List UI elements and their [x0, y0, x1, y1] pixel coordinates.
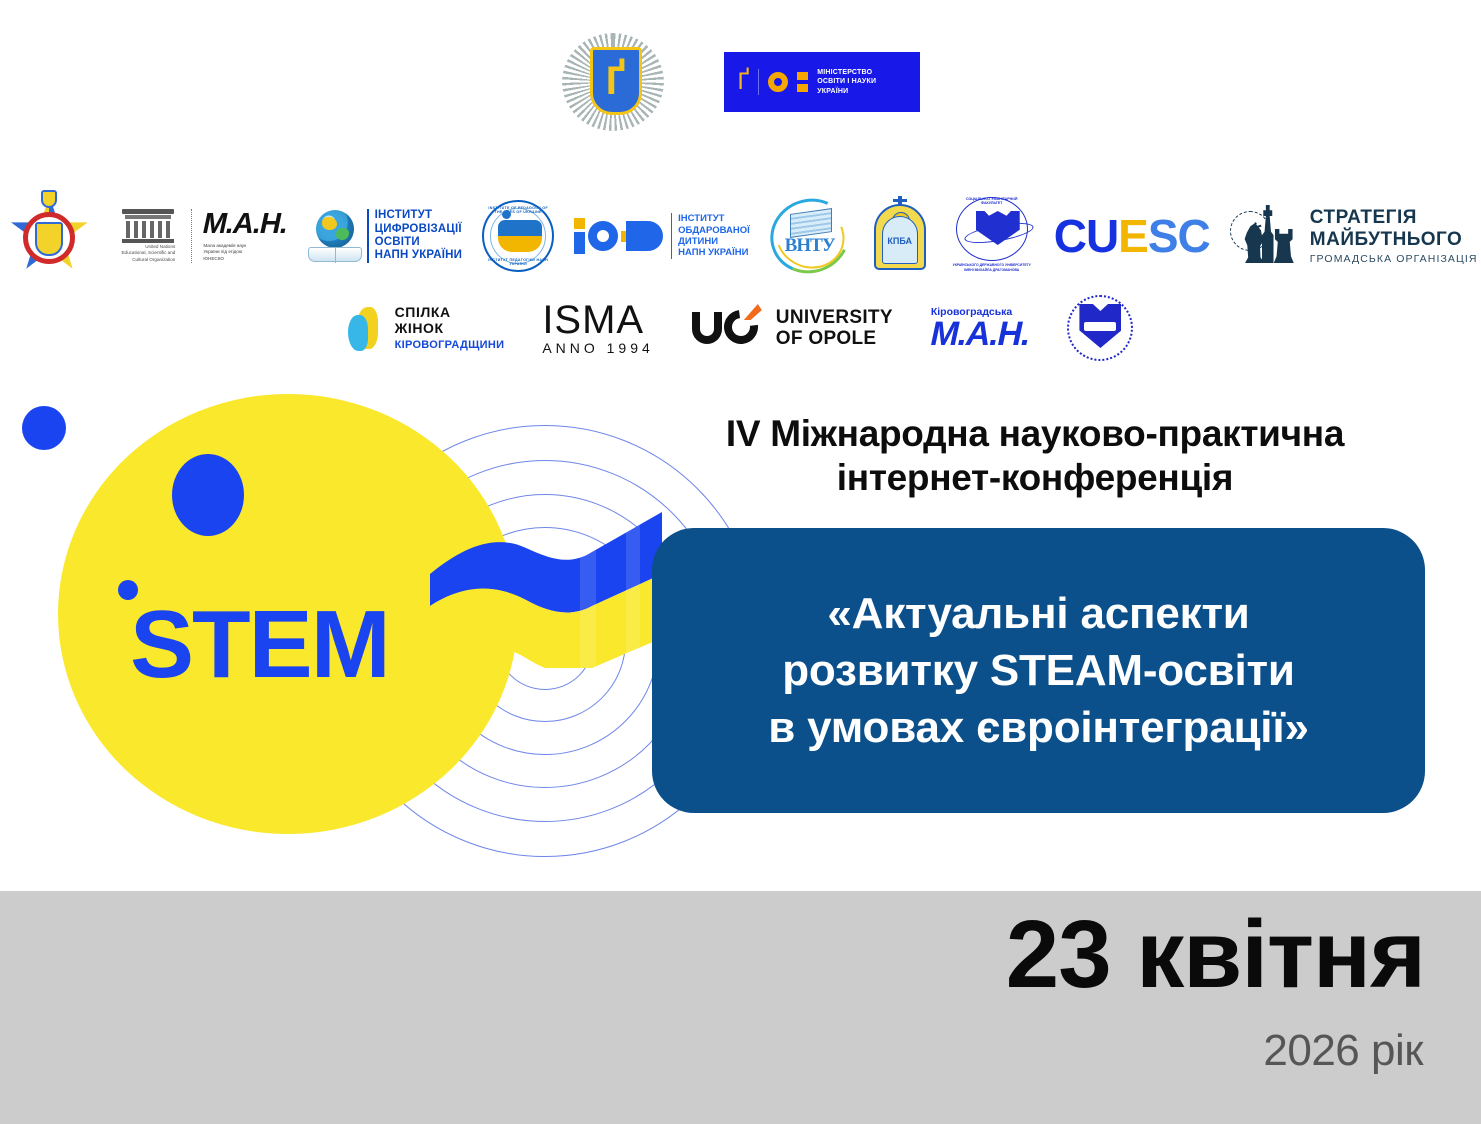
cuesc-part-2: E: [1118, 210, 1148, 262]
partner-logos-bar: Ґ Ґ МІНІСТЕРСТВО ОСВІТИ І НАУКИ УКРАЇНИ: [0, 0, 1481, 364]
man-block: М.А.Н. Мала академія наук України під ег…: [203, 210, 287, 263]
iod-line-1: ІНСТИТУТ: [678, 213, 724, 224]
trident-small-icon: Ґ: [738, 70, 750, 94]
spilka-line-3: КІРОВОГРАДЩИНИ: [395, 339, 505, 351]
laurel-wreath-seal-icon: [1067, 295, 1133, 361]
shf-sub-line-1: УКРАЇНСЬКОГО ДЕРЖАВНОГО УНІВЕРСИТЕТУ: [953, 263, 1031, 267]
iod-line-2: ОБДАРОВАНОЇ: [678, 225, 750, 236]
mon-line-1: МІНІСТЕРСТВО: [817, 69, 872, 76]
unesco-line-3: Cultural Organization: [132, 257, 175, 262]
mon-line-3: УКРАЇНИ: [817, 88, 848, 95]
conference-headline: IV Міжнародна науково-практична інтернет…: [620, 412, 1450, 499]
kman-wordmark: М.А.Н.: [928, 319, 1033, 350]
divider: [758, 69, 759, 95]
unesco-line-1: United Nations: [145, 244, 175, 249]
vntu-logo-icon: ВНТУ: [770, 199, 850, 273]
conference-year: 2026 рік: [1263, 1026, 1423, 1076]
ukrainian-flag-ribbon-icon: [430, 488, 690, 668]
unesco-block: United Nations Educational, Scientific a…: [115, 209, 181, 264]
logo-shf: СОЦІАЛЬНО-ГУМАНІТАРНИЙ ФАКУЛЬТЕТ УКРАЇНС…: [950, 197, 1034, 275]
pedagogy-ring-bottom: ІНСТИТУТ ПЕДАГОГІКИ НАПН УКРАЇНИ: [484, 258, 552, 266]
unesco-temple-icon: [122, 209, 174, 241]
ido-line-1: ІНСТИТУТ: [375, 209, 433, 221]
iod-line-4: НАПН УКРАЇНИ: [678, 247, 748, 258]
spilka-line-2: ЖІНОК: [395, 320, 444, 336]
logo-laurel-seal: [1067, 295, 1133, 361]
ido-line-3: ОСВІТИ: [375, 236, 420, 248]
headline-line-1: IV Міжнародна науково-практична: [726, 413, 1344, 454]
iod-text: ІНСТИТУТ ОБДАРОВАНОЇ ДИТИНИ НАПН УКРАЇНИ: [671, 213, 750, 259]
isma-wordmark-icon: ISMA ANNO 1994: [542, 301, 653, 356]
uo-logo-icon: [692, 308, 766, 348]
iod-logo-icon: [574, 218, 663, 254]
logo-kirovohrad-man: Кіровоградська М.А.Н.: [931, 306, 1030, 350]
conference-date: 23 квітня: [1006, 907, 1425, 1003]
unesco-line-2: Educational, Scientific and: [121, 250, 175, 255]
logo-iod-napn: ІНСТИТУТ ОБДАРОВАНОЇ ДИТИНИ НАПН УКРАЇНИ: [574, 213, 750, 259]
logo-cuesc: CUESC: [1054, 213, 1210, 259]
opole-line-1: UNIVERSITY: [776, 307, 893, 328]
stem-wordmark: STEM: [130, 590, 389, 700]
shf-subtitle: УКРАЇНСЬКОГО ДЕРЖАВНОГО УНІВЕРСИТЕТУ ІМЕ…: [950, 263, 1034, 273]
opole-text: UNIVERSITY OF OPOLE: [776, 307, 893, 350]
ido-line-2: ЦИФРОВІЗАЦІЇ: [375, 223, 462, 235]
woman-profile-icon: [348, 305, 388, 351]
logo-isma: ISMA ANNO 1994: [542, 301, 653, 356]
logo-row-partners: United Nations Educational, Scientific a…: [0, 138, 1481, 284]
logo-spilka-zhinok: СПІЛКА ЖІНОК КІРОВОГРАДЩИНИ: [348, 305, 505, 351]
strategy-line-3: ГРОМАДСЬКА ОРГАНІЗАЦІЯ: [1310, 253, 1478, 265]
cuesc-wordmark-icon: CUESC: [1054, 213, 1210, 259]
unesco-caption: United Nations Educational, Scientific a…: [121, 244, 175, 264]
mon-line-2: ОСВІТИ І НАУКИ: [817, 78, 876, 85]
decorative-dot-medium: [172, 454, 244, 536]
strategy-text: СТРАТЕГІЯ МАЙБУТНЬОГО ГРОМАДСЬКА ОРГАНІЗ…: [1310, 207, 1478, 265]
ido-line-4: НАПН УКРАЇНИ: [375, 249, 463, 261]
isma-line-2: ANNO 1994: [542, 340, 653, 356]
logo-university-opole: UNIVERSITY OF OPOLE: [692, 307, 893, 350]
ring-icon: [768, 72, 788, 92]
vntu-wordmark: ВНТУ: [770, 235, 850, 257]
logo-vntu: ВНТУ: [770, 199, 850, 273]
man-wordmark: М.А.Н.: [203, 210, 287, 239]
shf-sub-line-2: ІМЕНІ МИХАЙЛА ДРАГОМАНОВА: [964, 268, 1019, 272]
spilka-text: СПІЛКА ЖІНОК КІРОВОГРАДЩИНИ: [395, 305, 505, 350]
pedagogy-ring-top: INSTITUTE OF PEDAGOGY OF THE NAES OF UKR…: [484, 206, 552, 214]
title-line-2: розвитку STEAM-освіти: [782, 646, 1295, 695]
squares-icon: [797, 72, 808, 92]
mon-logo-icon: Ґ МІНІСТЕРСТВО ОСВІТИ І НАУКИ УКРАЇНИ: [724, 52, 920, 112]
logo-strategy-future: СТРАТЕГІЯ МАЙБУТНЬОГО ГРОМАДСЬКА ОРГАНІЗ…: [1230, 205, 1478, 267]
isma-line-1: ISMA: [542, 301, 653, 339]
mon-text: МІНІСТЕРСТВО ОСВІТИ І НАУКИ УКРАЇНИ: [817, 68, 876, 96]
church-seal-icon: КПБА: [870, 196, 930, 276]
man-line-2: України під егідою: [203, 249, 242, 254]
logo-row-secondary: СПІЛКА ЖІНОК КІРОВОГРАДЩИНИ ISMA ANNO 19…: [0, 284, 1481, 364]
logo-mon-banner: Ґ МІНІСТЕРСТВО ОСВІТИ І НАУКИ УКРАЇНИ: [724, 52, 920, 112]
decorative-dot-small: [22, 406, 66, 450]
police-academy-star-icon: [3, 192, 95, 280]
ido-text: ІНСТИТУТ ЦИФРОВІЗАЦІЇ ОСВІТИ НАПН УКРАЇН…: [367, 209, 463, 262]
shf-ring-top: СОЦІАЛЬНО-ГУМАНІТАРНИЙ ФАКУЛЬТЕТ: [956, 197, 1028, 205]
dotted-divider: [191, 209, 193, 263]
conference-title-text: «Актуальні аспекти розвитку STEAM-освіти…: [746, 585, 1331, 757]
man-line-1: Мала академія наук: [203, 243, 246, 248]
headline-line-2: інтернет-конференція: [837, 457, 1233, 498]
faculty-seal-icon: СОЦІАЛЬНО-ГУМАНІТАРНИЙ ФАКУЛЬТЕТ УКРАЇНС…: [950, 197, 1034, 275]
man-line-3: ЮНЕСКО: [203, 256, 224, 261]
date-footer-bar: 23 квітня 2026 рік: [0, 891, 1481, 1124]
logo-mvs-emblem: Ґ: [562, 33, 664, 131]
strategy-line-2: МАЙБУТНЬОГО: [1310, 229, 1463, 250]
man-wordmark-icon: Кіровоградська М.А.Н.: [931, 306, 1030, 350]
title-line-3: в умовах євроінтеграції»: [768, 703, 1309, 752]
cuesc-part-3: SC: [1148, 210, 1210, 262]
logo-ido-napn: ІНСТИТУТ ЦИФРОВІЗАЦІЇ ОСВІТИ НАПН УКРАЇН…: [308, 209, 463, 262]
iod-line-3: ДИТИНИ: [678, 236, 718, 247]
logo-unesco-man: United Nations Educational, Scientific a…: [115, 209, 287, 264]
conference-poster: Ґ Ґ МІНІСТЕРСТВО ОСВІТИ І НАУКИ УКРАЇНИ: [0, 0, 1481, 1124]
chess-clock-icon: [1230, 205, 1300, 267]
logo-kyiv-seal: КПБА: [870, 196, 930, 276]
cuesc-part-1: CU: [1054, 210, 1118, 262]
opole-line-2: OF OPOLE: [776, 328, 877, 349]
conference-title-box: «Актуальні аспекти розвитку STEAM-освіти…: [652, 528, 1425, 813]
trident-icon: Ґ: [606, 61, 625, 101]
spilka-line-1: СПІЛКА: [395, 304, 451, 320]
logo-navs: [3, 192, 95, 280]
strategy-line-1: СТРАТЕГІЯ: [1310, 207, 1417, 228]
globe-book-icon: [308, 210, 362, 262]
logo-row-primary: Ґ Ґ МІНІСТЕРСТВО ОСВІТИ І НАУКИ УКРАЇНИ: [0, 0, 1481, 138]
man-caption: Мала академія наук України під егідою ЮН…: [203, 243, 287, 263]
pedagogy-seal-icon: INSTITUTE OF PEDAGOGY OF THE NAES OF UKR…: [482, 200, 554, 272]
logo-institute-pedagogy: INSTITUTE OF PEDAGOGY OF THE NAES OF UKR…: [482, 200, 554, 272]
ukraine-coat-of-arms-icon: Ґ: [562, 33, 664, 131]
title-line-1: «Актуальні аспекти: [827, 589, 1249, 638]
shield-icon: Ґ: [590, 47, 642, 115]
